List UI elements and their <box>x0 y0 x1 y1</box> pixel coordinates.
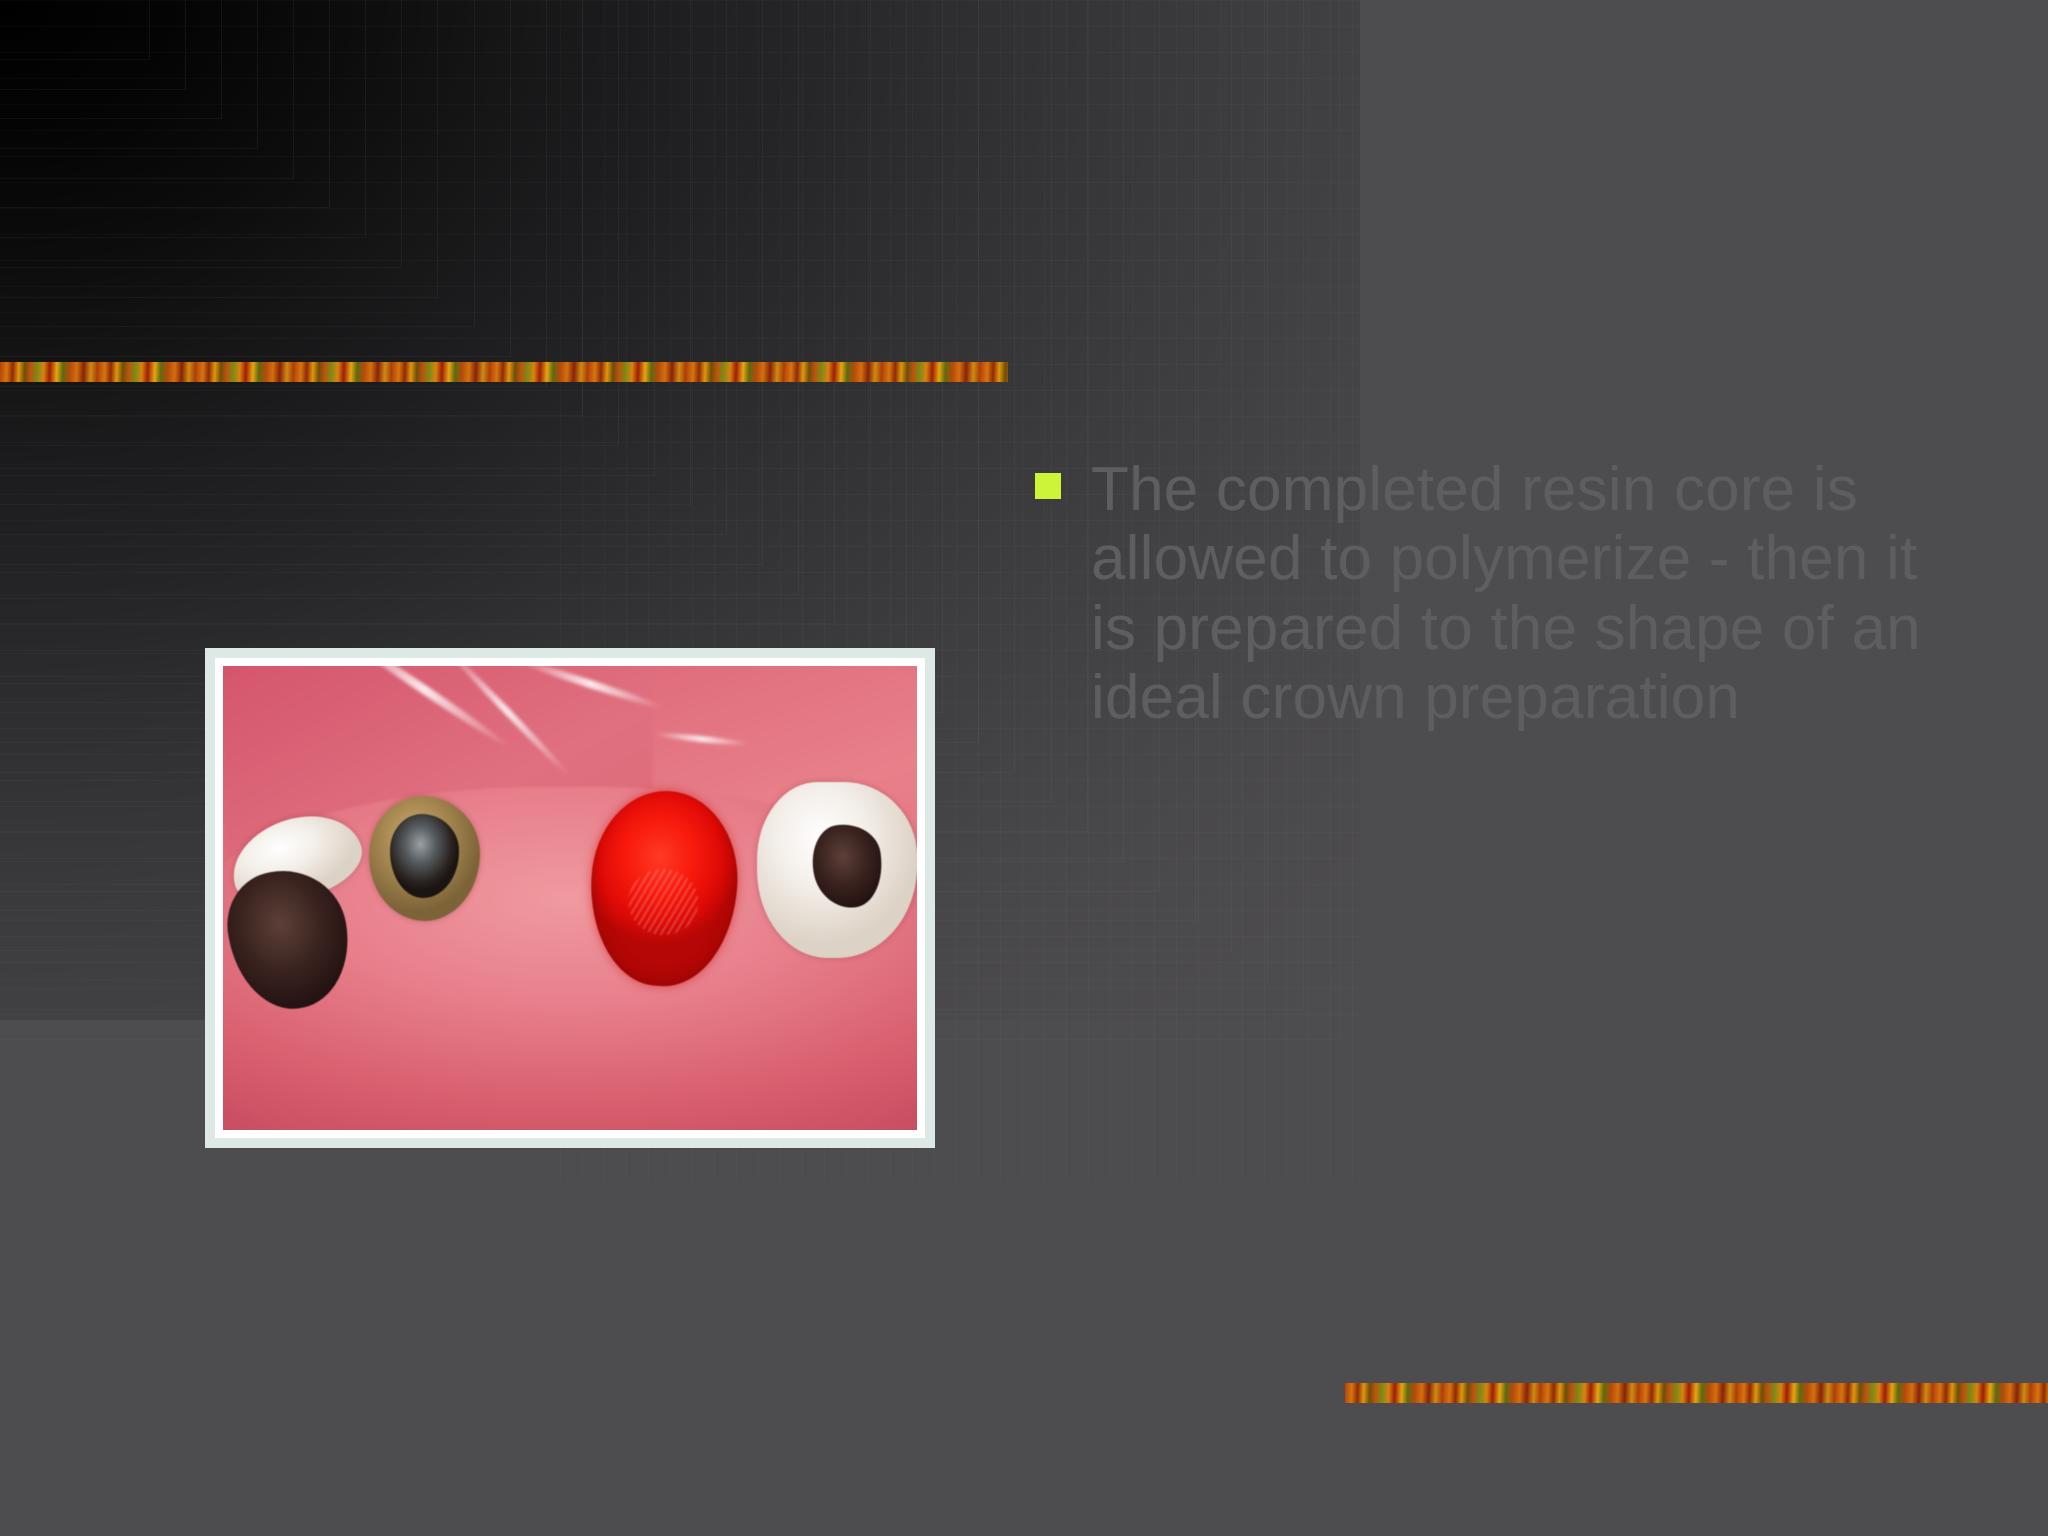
clinical-photo-mat <box>215 658 925 1138</box>
slide-body-text: The completed resin core is allowed to p… <box>1035 455 1945 733</box>
top-accent-band <box>0 362 1008 382</box>
photo-softfocus <box>223 666 917 1130</box>
bottom-accent-band <box>1345 1383 2048 1403</box>
bullet-item-text: The completed resin core is allowed to p… <box>1091 455 1945 733</box>
presentation-slide: The completed resin core is allowed to p… <box>0 0 2048 1536</box>
bullet-square-icon <box>1035 473 1061 499</box>
clinical-photo-frame <box>205 648 935 1148</box>
clinical-photo-intraoral-resin-core <box>223 666 917 1130</box>
bullet-item: The completed resin core is allowed to p… <box>1035 455 1945 733</box>
